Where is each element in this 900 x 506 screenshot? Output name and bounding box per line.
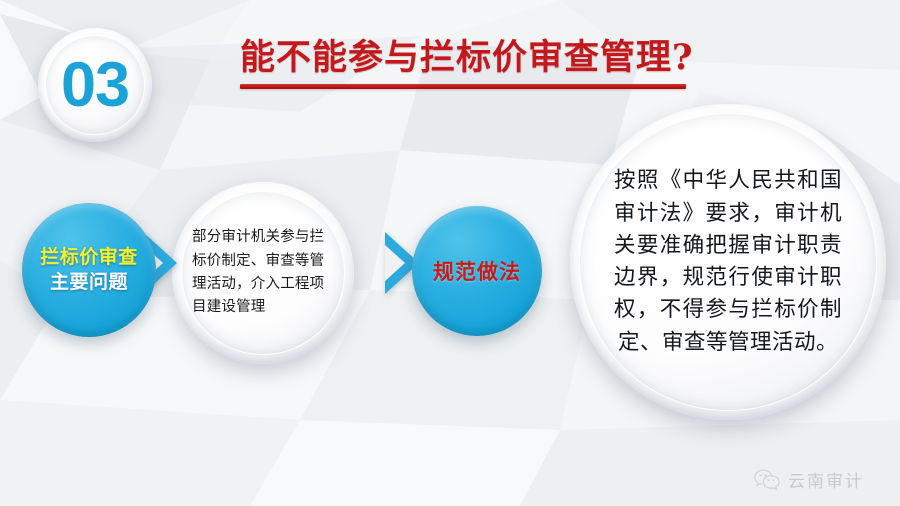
title-underline-rule (240, 84, 686, 89)
step-number-badge: 03 (38, 28, 152, 142)
problem-label-yellow: 拦标价审查 (40, 247, 138, 268)
problem-detail-circle[interactable]: 部分审计机关参与拦标价制定、审查等管理活动，介入工程项目建设管理 (172, 182, 354, 364)
step-number-text: 03 (61, 54, 129, 117)
watermark: 云南审计 (754, 467, 864, 492)
watermark-text: 云南审计 (788, 467, 864, 492)
page-title-text: 能不能参与拦标价审查管理? (240, 38, 692, 78)
answer-circle-text: 按照《中华人民共和国审计法》要求，审计机关要准确把握审计职责边界，规范行使审计职… (614, 165, 842, 359)
practice-circle-label: 规范做法 (433, 256, 521, 286)
problem-label-white: 主要问题 (50, 272, 128, 293)
problem-detail-text: 部分审计机关参与拦标价制定、审查等管理活动，介入工程项目建设管理 (192, 226, 334, 320)
answer-circle[interactable]: 按照《中华人民共和国审计法》要求，审计机关要准确把握审计职责边界，规范行使审计职… (570, 104, 886, 420)
slide-canvas: 03 能不能参与拦标价审查管理? 拦标价审查主要问题 部分审计机关参与拦标价制定… (0, 0, 900, 506)
problem-circle[interactable]: 拦标价审查主要问题 (22, 203, 156, 337)
wechat-icon (754, 469, 780, 491)
problem-circle-label: 拦标价审查主要问题 (34, 245, 144, 295)
practice-circle[interactable]: 规范做法 (412, 206, 542, 336)
page-title: 能不能参与拦标价审查管理? (240, 38, 692, 89)
